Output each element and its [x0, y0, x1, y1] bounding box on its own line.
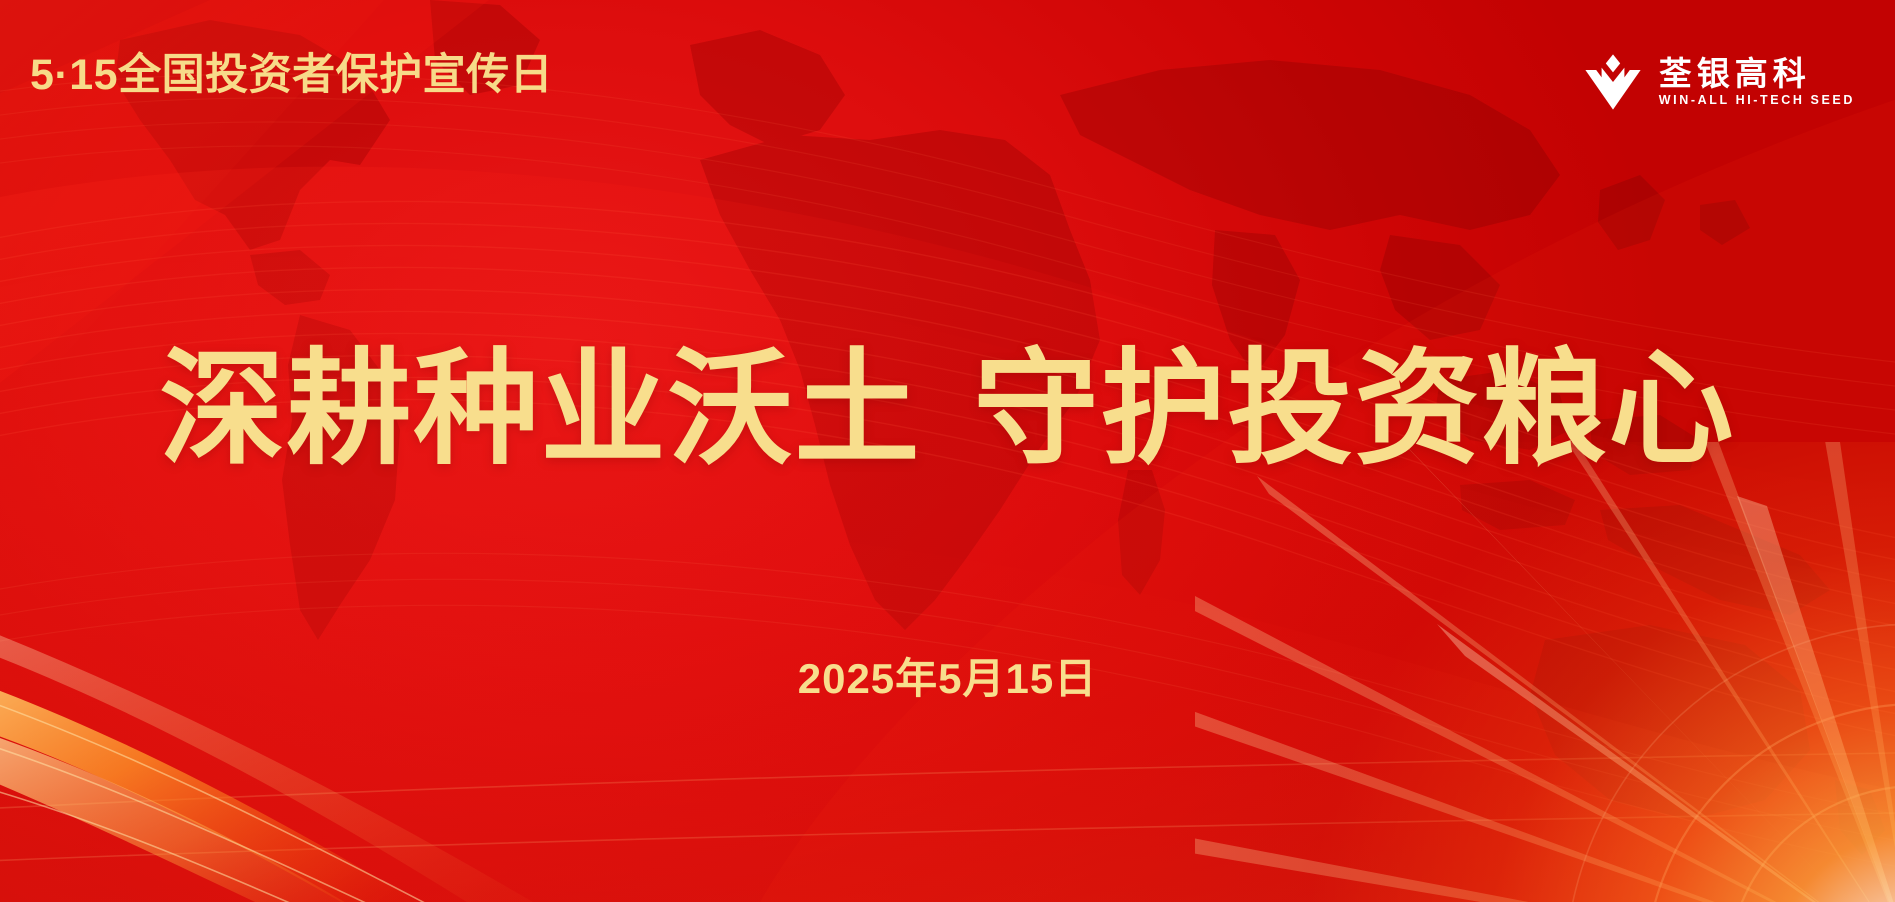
chevron-diamond-logo-icon — [1583, 52, 1643, 112]
main-title-part2: 守护投资粮心 — [974, 340, 1736, 479]
main-title-part1: 深耕种业沃土 — [160, 340, 922, 479]
brand-name-en: WIN-ALL HI-TECH SEED — [1659, 94, 1855, 107]
investor-protection-banner: 5·15全国投资者保护宣传日 荃银高科 WIN-ALL HI-TECH SEED… — [0, 0, 1895, 902]
event-date: 2025年5月15日 — [0, 658, 1895, 700]
brand-name-cn: 荃银高科 — [1659, 57, 1855, 92]
brand-logo: 荃银高科 WIN-ALL HI-TECH SEED — [1583, 52, 1855, 112]
main-title: 深耕种业沃土守护投资粮心 — [0, 340, 1895, 480]
golden-streaks-bottom-left — [0, 582, 700, 902]
campaign-tag: 5·15全国投资者保护宣传日 — [30, 54, 553, 97]
brand-text-block: 荃银高科 WIN-ALL HI-TECH SEED — [1659, 57, 1855, 106]
